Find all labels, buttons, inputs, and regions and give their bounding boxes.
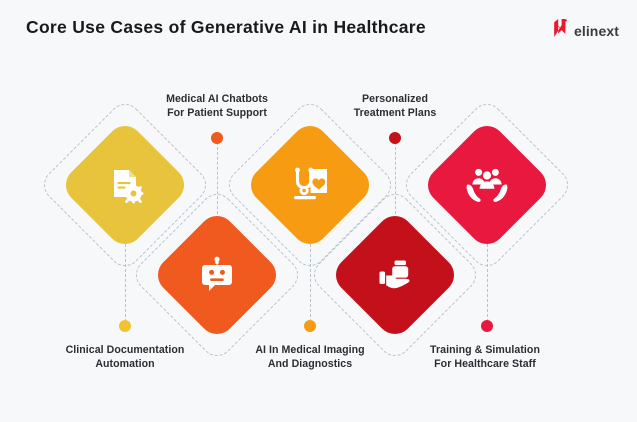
brand-logo: elinext — [552, 18, 619, 43]
caption-line-1: Medical AI Chatbots — [132, 93, 302, 107]
connector-stem-clinical-documentation — [125, 244, 126, 322]
medical-imaging-icon — [286, 161, 334, 209]
connector-dot-medical-ai-chatbots — [211, 132, 223, 144]
caption-line-1: Personalized — [320, 93, 470, 107]
caption-line-2: For Patient Support — [132, 107, 302, 121]
hands-team-care-icon — [463, 161, 511, 209]
connector-dot-clinical-documentation — [119, 320, 131, 332]
connector-stem-training-and-simulation — [487, 244, 488, 322]
caption-personalized-treatment-plans: Personalized Treatment Plans — [320, 93, 470, 120]
caption-medical-ai-chatbots: Medical AI Chatbots For Patient Support — [132, 93, 302, 120]
connector-stem-personalized-treatment-plans — [395, 142, 396, 214]
connector-stem-medical-ai-chatbots — [217, 142, 218, 214]
caption-line-1: Clinical Documentation — [35, 344, 215, 358]
caption-line-1: AI In Medical Imaging — [222, 344, 398, 358]
node-training-and-simulation[interactable] — [425, 123, 549, 247]
connector-dot-personalized-treatment-plans — [389, 132, 401, 144]
elinext-logomark-icon — [552, 18, 568, 43]
caption-ai-in-medical-imaging: AI In Medical Imaging And Diagnostics — [222, 344, 398, 371]
hand-medicine-icon — [371, 251, 419, 299]
brand-name: elinext — [574, 23, 619, 39]
document-gear-icon — [101, 161, 149, 209]
node-tile[interactable] — [421, 119, 554, 252]
connector-dot-ai-in-medical-imaging — [304, 320, 316, 332]
caption-line-2: Automation — [35, 358, 215, 372]
caption-training-and-simulation: Training & Simulation For Healthcare Sta… — [397, 344, 573, 371]
caption-clinical-documentation-automation: Clinical Documentation Automation — [35, 344, 215, 371]
page-title: Core Use Cases of Generative AI in Healt… — [26, 17, 426, 38]
caption-line-2: And Diagnostics — [222, 358, 398, 372]
connector-stem-ai-in-medical-imaging — [310, 244, 311, 322]
connector-dot-training-and-simulation — [481, 320, 493, 332]
caption-line-2: Treatment Plans — [320, 107, 470, 121]
caption-line-2: For Healthcare Staff — [397, 358, 573, 372]
caption-line-1: Training & Simulation — [397, 344, 573, 358]
chatbot-robot-icon — [193, 251, 241, 299]
infographic-canvas: Core Use Cases of Generative AI in Healt… — [0, 0, 637, 422]
